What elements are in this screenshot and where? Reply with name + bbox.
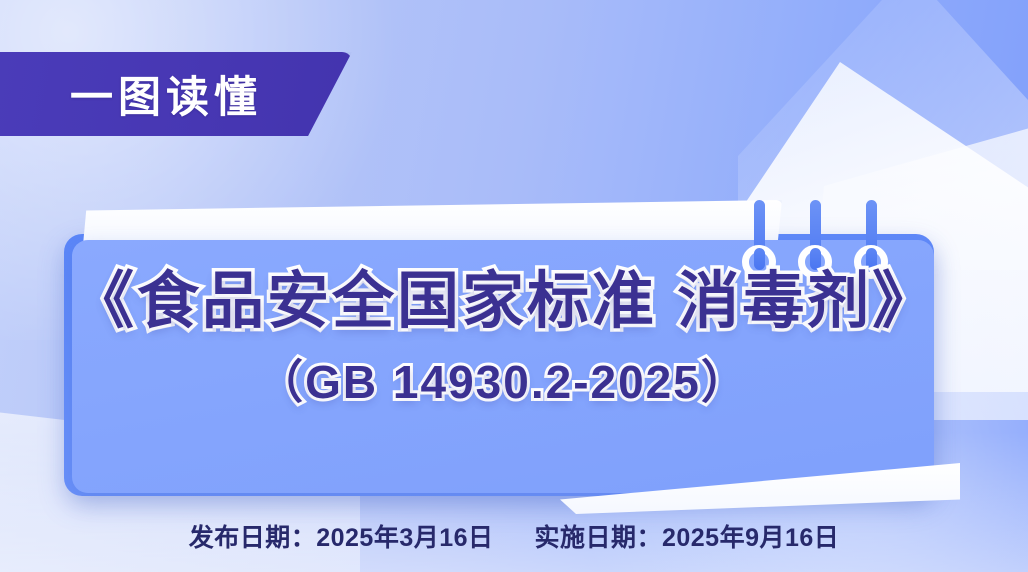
title-block: 《食品安全国家标准 消毒剂》 （GB 14930.2-2025） xyxy=(72,266,934,412)
standard-code-subtitle: （GB 14930.2-2025） xyxy=(72,346,934,412)
page-title: 《食品安全国家标准 消毒剂》 xyxy=(72,266,934,338)
date-footer: 发布日期：2025年3月16日 实施日期：2025年9月16日 xyxy=(0,518,1028,554)
banner-label: 一图读懂 xyxy=(70,63,262,125)
publish-date: 发布日期：2025年3月16日 xyxy=(189,524,494,552)
effective-date: 实施日期：2025年9月16日 xyxy=(534,524,839,552)
read-in-one-picture-banner: 一图读懂 xyxy=(0,52,352,136)
infographic-poster: 一图读懂 《食品安全国家标准 消毒剂》 （GB 14930.2-2025） 发布… xyxy=(0,0,1028,572)
